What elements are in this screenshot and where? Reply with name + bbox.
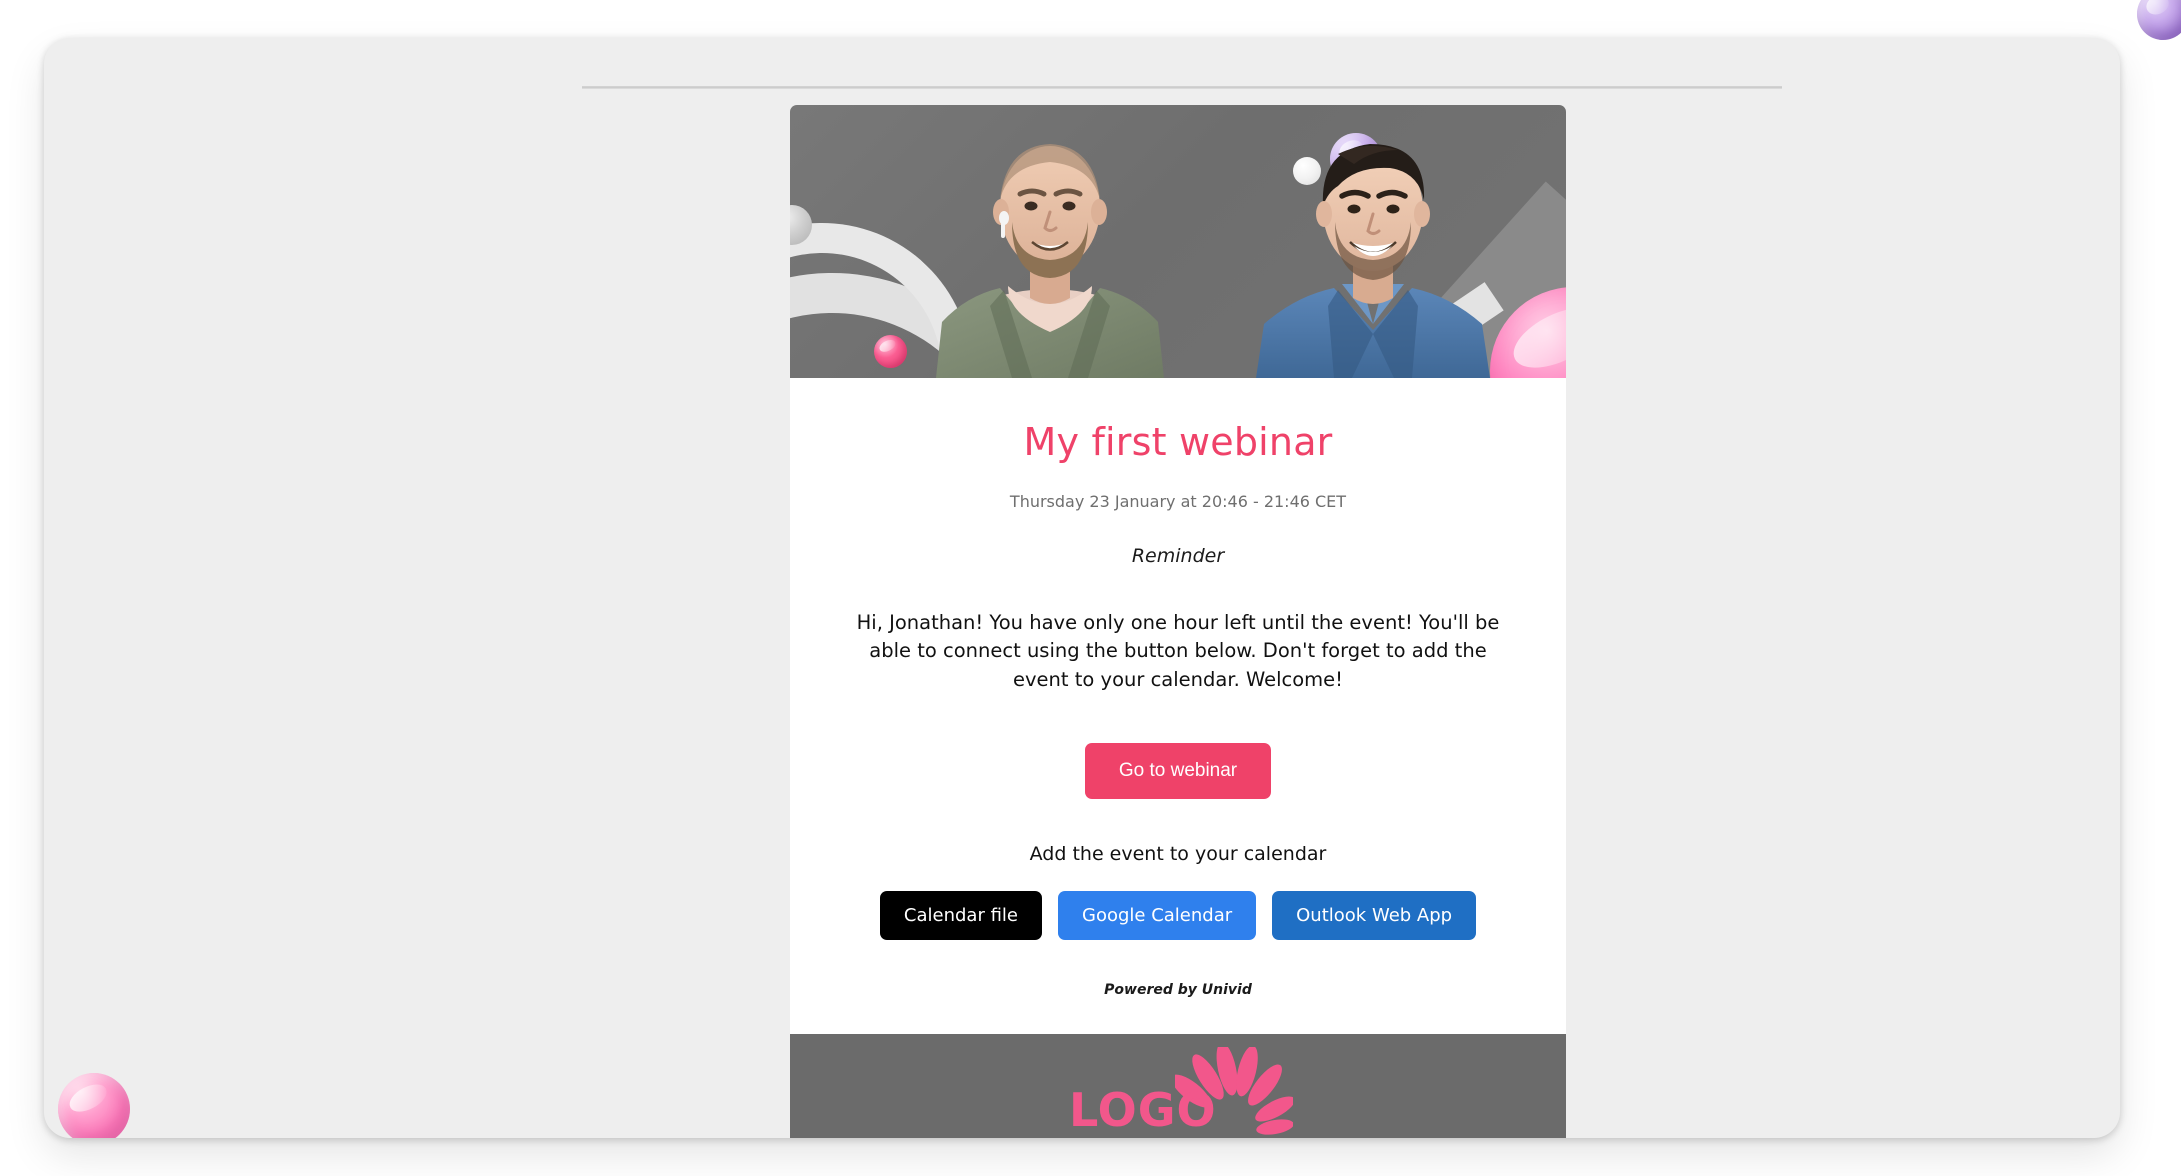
top-divider	[582, 86, 1782, 89]
email-preview: My first webinar Thursday 23 January at …	[790, 105, 1566, 1138]
email-body: My first webinar Thursday 23 January at …	[790, 378, 1566, 1034]
calendar-buttons-row: Calendar file Google Calendar Outlook We…	[830, 891, 1526, 940]
logo-text: LOGO	[1069, 1083, 1217, 1137]
app-window-card: My first webinar Thursday 23 January at …	[44, 38, 2120, 1138]
purple-sphere-top-right-decoration	[2137, 0, 2181, 40]
google-calendar-button[interactable]: Google Calendar	[1058, 891, 1256, 940]
presenter-left-photo	[916, 126, 1184, 378]
go-to-webinar-button[interactable]: Go to webinar	[1085, 743, 1271, 799]
outlook-web-app-button[interactable]: Outlook Web App	[1272, 891, 1476, 940]
page-title: My first webinar	[830, 420, 1526, 466]
pink-sphere-small-icon	[874, 335, 907, 368]
calendar-heading: Add the event to your calendar	[830, 843, 1526, 865]
presenter-right-photo	[1242, 134, 1504, 378]
pink-sphere-bottom-left-decoration	[58, 1073, 130, 1138]
calendar-file-button[interactable]: Calendar file	[880, 891, 1042, 940]
page-root: My first webinar Thursday 23 January at …	[0, 0, 2181, 1176]
powered-by-label: Powered by Univid	[830, 982, 1526, 998]
email-message: Hi, Jonathan! You have only one hour lef…	[830, 609, 1526, 696]
email-footer-logo-bar: LOGO	[790, 1034, 1566, 1138]
reminder-label: Reminder	[830, 545, 1526, 567]
brand-logo: LOGO	[1063, 1047, 1293, 1138]
hero-banner-image	[790, 105, 1566, 378]
event-datetime: Thursday 23 January at 20:46 - 21:46 CET	[830, 492, 1526, 511]
